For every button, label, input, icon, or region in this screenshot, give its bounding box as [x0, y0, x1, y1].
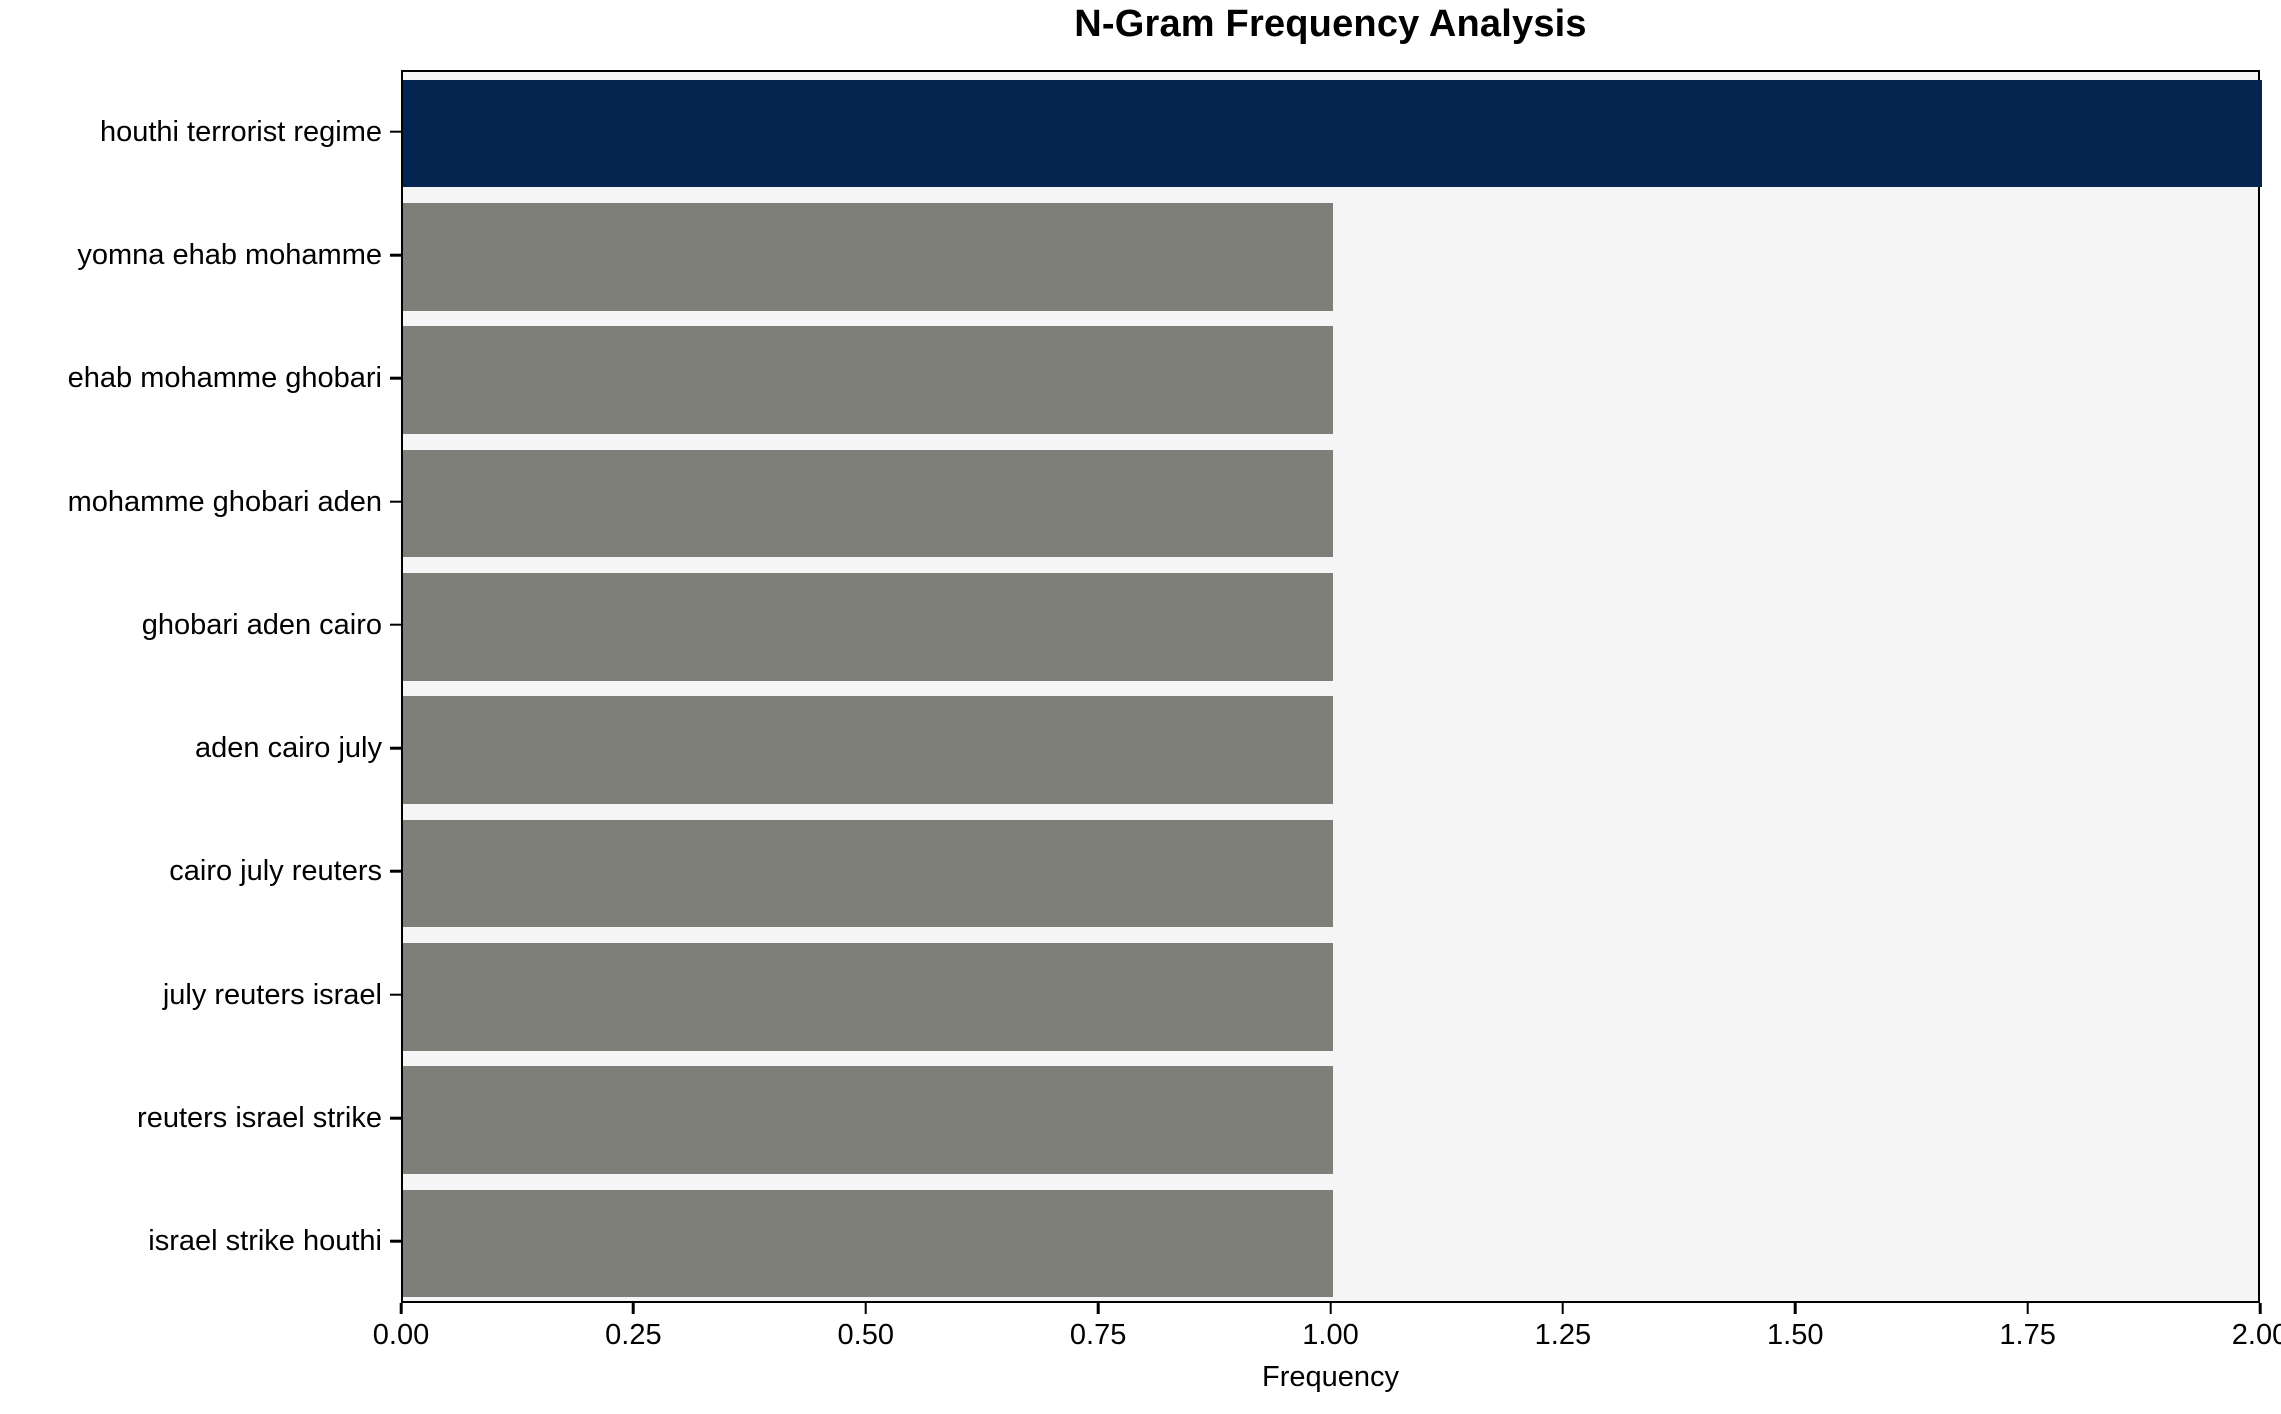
x-tick-mark	[1794, 1303, 1797, 1314]
y-tick-label: cairo july reuters	[169, 856, 382, 886]
y-tick-mark	[390, 130, 401, 133]
x-tick-mark	[2026, 1303, 2029, 1314]
bar	[403, 203, 1333, 311]
chart-figure: N-Gram Frequency Analysis houthi terrori…	[0, 0, 2281, 1414]
bar	[403, 326, 1333, 434]
y-tick-mark	[390, 1240, 401, 1243]
chart-title: N-Gram Frequency Analysis	[401, 2, 2260, 46]
bar	[403, 450, 1333, 558]
y-tick-mark	[390, 747, 401, 750]
plot-area	[401, 70, 2260, 1303]
x-tick-mark	[1562, 1303, 1565, 1314]
y-tick-label: aden cairo july	[195, 733, 382, 763]
x-tick-mark	[1097, 1303, 1100, 1314]
bar	[403, 573, 1333, 681]
y-tick-mark	[390, 624, 401, 627]
y-tick-label: reuters israel strike	[137, 1103, 382, 1133]
x-tick-label: 1.75	[1999, 1319, 2055, 1351]
bars-layer	[403, 72, 2258, 1301]
bar	[403, 80, 2262, 188]
bar	[403, 1066, 1333, 1174]
y-tick-label: yomna ehab mohamme	[77, 240, 382, 270]
x-tick-mark	[400, 1303, 403, 1314]
y-tick-label: ghobari aden cairo	[142, 610, 382, 640]
y-tick-label: july reuters israel	[163, 980, 382, 1010]
y-tick-mark	[390, 500, 401, 503]
bar	[403, 820, 1333, 928]
bar	[403, 1190, 1333, 1298]
x-tick-label: 0.00	[373, 1319, 429, 1351]
y-tick-mark	[390, 1117, 401, 1120]
y-tick-mark	[390, 254, 401, 257]
y-tick-label: mohamme ghobari aden	[68, 487, 382, 517]
x-tick-label: 0.25	[605, 1319, 661, 1351]
x-tick-label: 1.50	[1767, 1319, 1823, 1351]
bar	[403, 696, 1333, 804]
x-axis-title: Frequency	[401, 1360, 2260, 1394]
x-tick-mark	[864, 1303, 867, 1314]
y-tick-label: ehab mohamme ghobari	[68, 363, 382, 393]
x-tick-label: 2.00	[2232, 1319, 2281, 1351]
x-tick-label: 0.75	[1070, 1319, 1126, 1351]
y-axis: houthi terrorist regimeyomna ehab mohamm…	[0, 0, 401, 1414]
y-tick-label: houthi terrorist regime	[100, 117, 382, 147]
x-tick-label: 0.50	[838, 1319, 894, 1351]
y-tick-mark	[390, 870, 401, 873]
x-axis: Frequency 0.000.250.500.751.001.251.501.…	[0, 1303, 2281, 1414]
x-tick-mark	[632, 1303, 635, 1314]
x-tick-mark	[2259, 1303, 2262, 1314]
x-tick-label: 1.00	[1302, 1319, 1358, 1351]
bar	[403, 943, 1333, 1051]
y-tick-mark	[390, 377, 401, 380]
x-tick-mark	[1329, 1303, 1332, 1314]
y-tick-label: israel strike houthi	[148, 1226, 382, 1256]
y-tick-mark	[390, 993, 401, 996]
x-tick-label: 1.25	[1535, 1319, 1591, 1351]
